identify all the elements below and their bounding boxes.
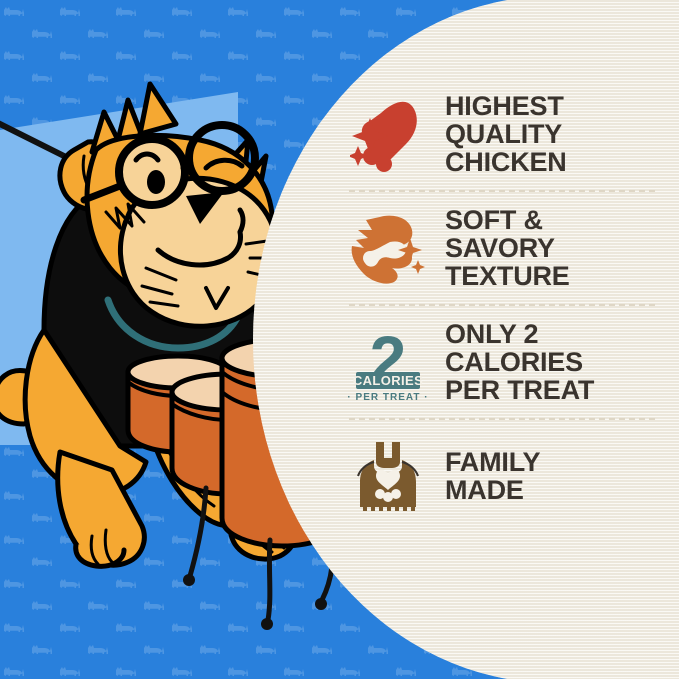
feature-item-only-2-calories: 2 CALORIES · PER TREAT · ONLY 2 CALORIES…: [345, 306, 665, 418]
chicken-drumstick-icon: [345, 88, 431, 180]
product-feature-graphic: HIGHEST QUALITY CHICKEN SOFT & SAVORY TE…: [0, 0, 679, 679]
paw-holding-drumstick-icon: [345, 202, 431, 294]
feature-item-highest-quality-chicken: HIGHEST QUALITY CHICKEN: [345, 78, 665, 190]
two-calories-badge-icon: 2 CALORIES · PER TREAT ·: [345, 316, 431, 408]
badge-per-treat-label: · PER TREAT ·: [348, 392, 428, 403]
feature-label: SOFT & SAVORY TEXTURE: [445, 206, 570, 290]
feature-divider: [349, 304, 655, 306]
feature-item-soft-savory-texture: SOFT & SAVORY TEXTURE: [345, 192, 665, 304]
feature-label: HIGHEST QUALITY CHICKEN: [445, 92, 567, 176]
feature-item-family-made: FAMILY MADE: [345, 420, 665, 532]
feature-label: ONLY 2 CALORIES PER TREAT: [445, 320, 594, 404]
feature-divider: [349, 190, 655, 192]
apron-icon: [345, 430, 431, 522]
feature-label: FAMILY MADE: [445, 448, 540, 504]
feature-list: HIGHEST QUALITY CHICKEN SOFT & SAVORY TE…: [345, 78, 665, 532]
feature-divider: [349, 418, 655, 420]
badge-calories-label: CALORIES: [353, 373, 423, 388]
